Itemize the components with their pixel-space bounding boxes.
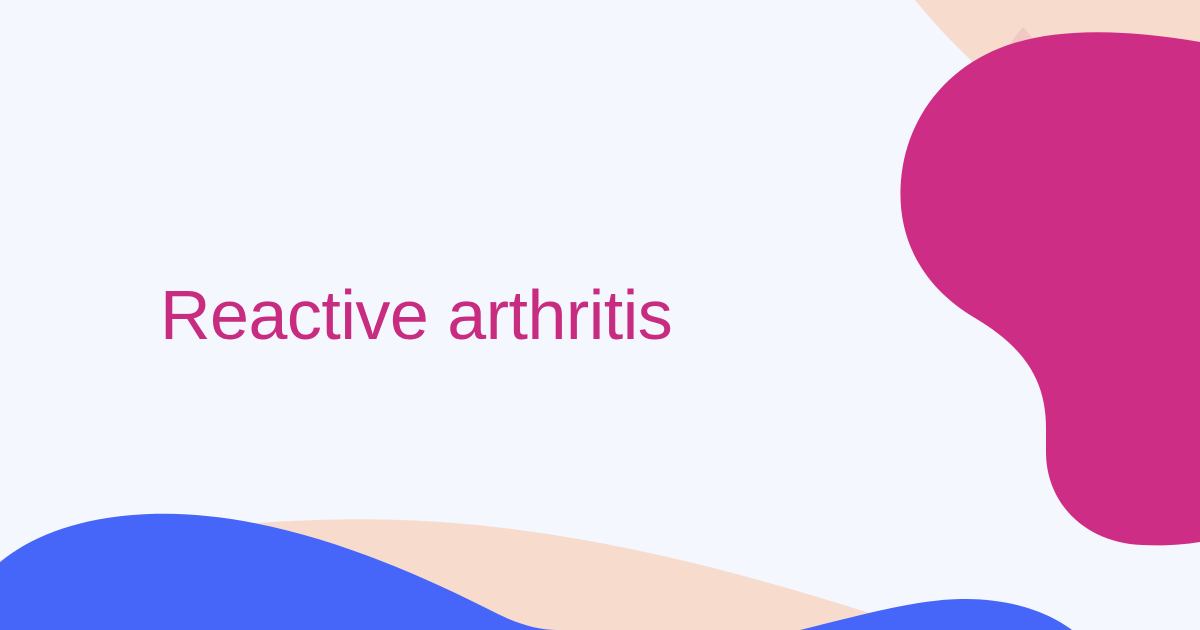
headline-container: Reactive arthritis [0, 0, 1200, 630]
social-share-card: Reactive arthritis [0, 0, 1200, 630]
page-title: Reactive arthritis [160, 275, 672, 356]
